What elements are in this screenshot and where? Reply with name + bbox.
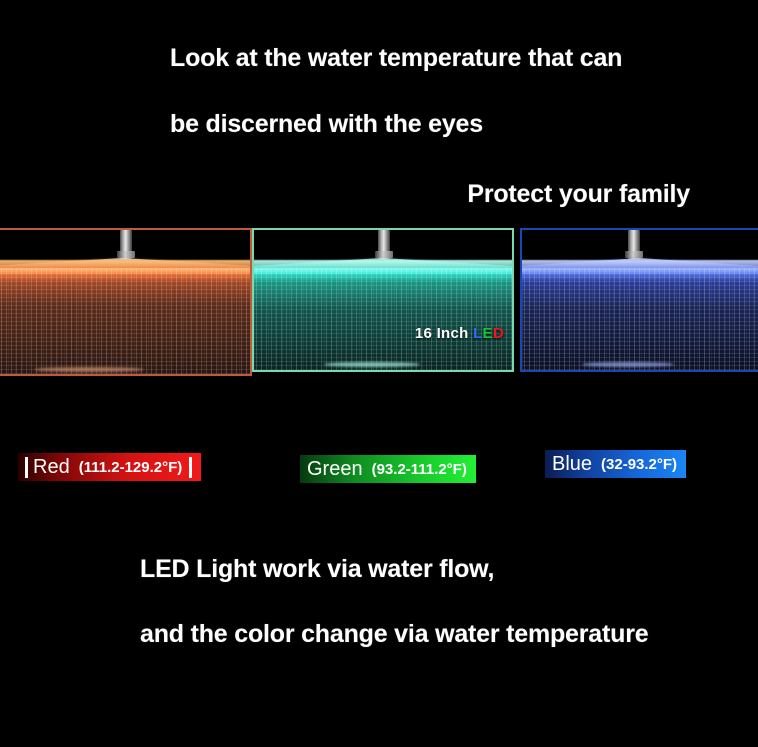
water-streams	[254, 268, 512, 370]
product-panel-green: 16 Inch LED	[252, 228, 514, 372]
shower-arm-icon	[628, 230, 640, 260]
legend-color-name: Green	[307, 458, 363, 481]
product-panel-blue	[520, 228, 758, 372]
legend-temp-range: (93.2-111.2°F)	[372, 461, 467, 478]
legend-color-name: Blue	[552, 453, 592, 476]
shower-photo-green: 16 Inch LED	[254, 230, 512, 370]
water-basin-glow	[34, 367, 144, 372]
badge-cap-left	[25, 457, 28, 478]
shower-arm-icon	[378, 230, 390, 260]
caption-line-1: LED Light work via water flow,	[140, 555, 494, 584]
caption-line-2: and the color change via water temperatu…	[140, 620, 648, 649]
water-basin-glow	[582, 362, 674, 367]
watermark-letter-d: D	[493, 325, 504, 342]
product-panel-red	[0, 228, 252, 376]
water-streams	[522, 268, 758, 370]
legend-badge-blue: Blue (32-93.2°F)	[545, 450, 686, 478]
badge-cap-right	[189, 457, 192, 478]
watermark-size-text: 16 Inch	[415, 325, 473, 342]
water-basin-glow	[324, 362, 420, 367]
product-panel-row: 16 Inch LED	[0, 228, 758, 378]
headline-line-2: be discerned with the eyes	[170, 110, 483, 139]
shower-arm-icon	[120, 230, 132, 260]
legend-temp-range: (32-93.2°F)	[601, 456, 677, 473]
promo-canvas: Look at the water temperature that can b…	[0, 0, 758, 747]
legend-temp-range: (111.2-129.2°F)	[79, 459, 183, 476]
product-watermark: 16 Inch LED	[415, 325, 504, 342]
shower-photo-blue	[522, 230, 758, 370]
shower-photo-red	[0, 230, 250, 374]
legend-badge-green: Green (93.2-111.2°F)	[300, 455, 476, 483]
watermark-letter-l: L	[473, 325, 482, 342]
watermark-letter-e: E	[483, 325, 493, 342]
headline-line-3: Protect your family	[467, 180, 690, 209]
water-streams	[0, 268, 250, 374]
headline-line-1: Look at the water temperature that can	[170, 44, 622, 73]
legend-badge-red: Red (111.2-129.2°F)	[18, 453, 201, 481]
legend-color-name: Red	[33, 456, 70, 479]
